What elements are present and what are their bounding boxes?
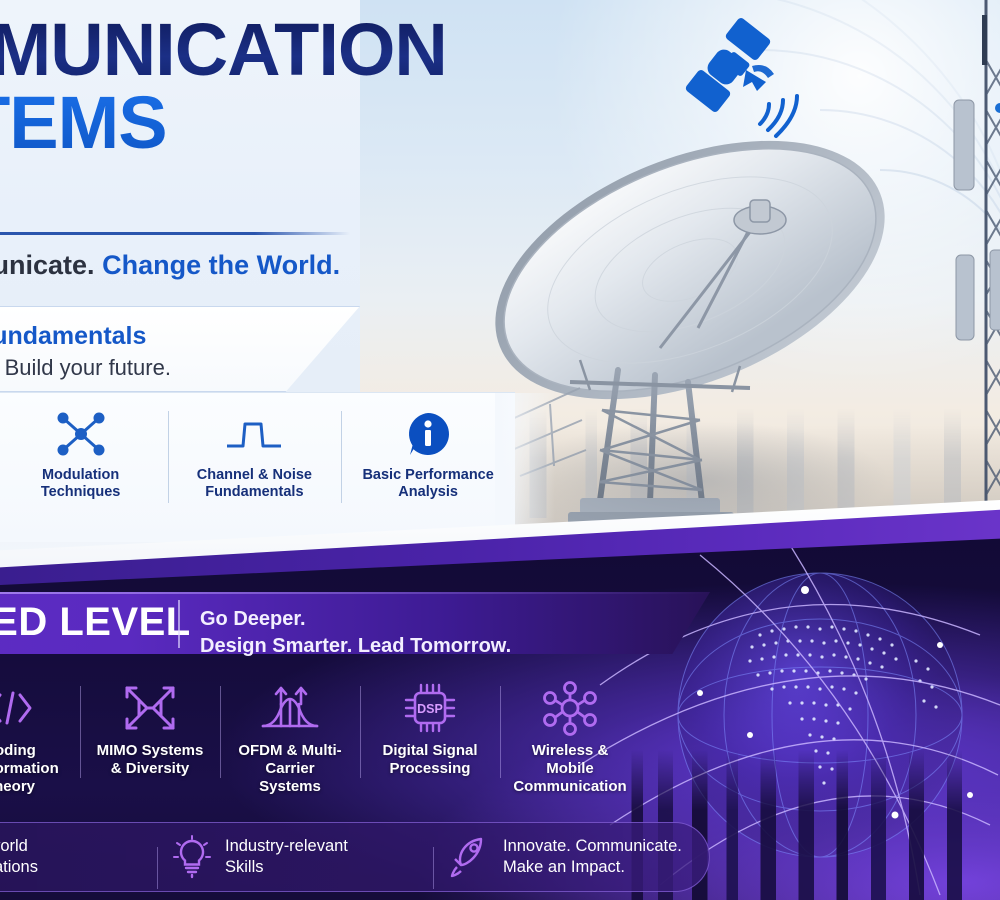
fundamentals-subheading: Master the basics. Build your future. bbox=[0, 355, 171, 381]
fundamentals-topic-strip: Digital Communication Systems bbox=[0, 392, 515, 542]
advanced-sub-line1: Go Deeper. bbox=[200, 606, 511, 633]
info-bubble-icon bbox=[404, 409, 452, 459]
topic-wireless-mobile-communication[interactable]: Wireless & Mobile Communication bbox=[500, 680, 640, 796]
dsp-chip-icon: DSP bbox=[402, 680, 458, 736]
benefit-label: Real-world Applications bbox=[0, 836, 38, 878]
hero-top-section: COMMUNICATION SYSTEMS Learn. Communicate… bbox=[0, 0, 1000, 560]
topic-digital-signal-processing[interactable]: DSP Digital Signal Processing bbox=[360, 680, 500, 778]
lightbulb-icon bbox=[171, 835, 213, 879]
topic-label: Coding & Information Theory bbox=[0, 742, 74, 796]
topic-label: Basic Performance Analysis bbox=[362, 467, 493, 501]
mimo-antenna-icon bbox=[121, 680, 179, 736]
banner-root: COMMUNICATION SYSTEMS Learn. Communicate… bbox=[0, 0, 1000, 900]
tagline-plain: Learn. Communicate. bbox=[0, 250, 102, 280]
benefit-industry-relevant-skills[interactable]: Industry-relevant Skills bbox=[157, 835, 433, 879]
advanced-level-subtitle: Go Deeper. Design Smarter. Lead Tomorrow… bbox=[200, 606, 511, 660]
svg-text:DSP: DSP bbox=[417, 702, 443, 716]
hero-title-block: COMMUNICATION SYSTEMS bbox=[0, 14, 520, 161]
benefit-label: Innovate. Communicate. Make an Impact. bbox=[503, 836, 682, 878]
advanced-level-title: ADVANCED LEVEL bbox=[0, 600, 191, 645]
topic-mimo-systems-diversity[interactable]: MIMO Systems & Diversity bbox=[80, 680, 220, 778]
title-divider bbox=[0, 232, 350, 235]
topic-label: Channel & Noise Fundamentals bbox=[197, 467, 312, 501]
wireless-network-icon bbox=[542, 680, 598, 736]
topic-label: Modulation Techniques bbox=[41, 467, 121, 501]
hero-title-line2: SYSTEMS bbox=[0, 85, 520, 160]
topic-ofdm-multicarrier-systems[interactable]: OFDM & Multi-Carrier Systems bbox=[220, 680, 360, 796]
topic-coding-information-theory[interactable]: Coding & Information Theory bbox=[0, 680, 80, 796]
benefit-label: Industry-relevant Skills bbox=[225, 836, 348, 878]
tagline-highlight: Change the World. bbox=[102, 250, 340, 280]
pulse-noise-icon bbox=[223, 409, 285, 459]
topic-basic-performance-analysis[interactable]: Basic Performance Analysis bbox=[341, 393, 515, 501]
benefit-real-world-applications[interactable]: Real-world Applications bbox=[0, 836, 157, 878]
advanced-level-divider bbox=[178, 600, 180, 648]
constellation-modulation-icon bbox=[53, 409, 109, 459]
topic-label: Digital Signal Processing bbox=[382, 742, 477, 778]
fundamentals-heading: Build Strong Fundamentals bbox=[0, 322, 146, 351]
rocket-icon bbox=[447, 835, 491, 879]
advanced-sub-line2: Design Smarter. Lead Tomorrow. bbox=[200, 633, 511, 660]
benefit-innovate-communicate[interactable]: Innovate. Communicate. Make an Impact. bbox=[433, 835, 709, 879]
topic-modulation-techniques[interactable]: Modulation Techniques bbox=[0, 393, 168, 501]
topic-label: Wireless & Mobile Communication bbox=[506, 742, 634, 796]
coding-theory-icon bbox=[0, 680, 36, 736]
ofdm-spectrum-icon bbox=[259, 680, 321, 736]
topic-label: MIMO Systems & Diversity bbox=[97, 742, 204, 778]
benefits-pill: Real-world Applications bbox=[0, 822, 710, 892]
topic-channel-noise-fundamentals[interactable]: Channel & Noise Fundamentals bbox=[168, 393, 342, 501]
hero-title-line1: COMMUNICATION bbox=[0, 14, 520, 85]
advanced-topic-row: Coding & Information Theory MIMO Syste bbox=[0, 680, 640, 800]
topic-label: OFDM & Multi-Carrier Systems bbox=[226, 742, 354, 796]
hero-tagline: Learn. Communicate. Change the World. bbox=[0, 250, 520, 281]
